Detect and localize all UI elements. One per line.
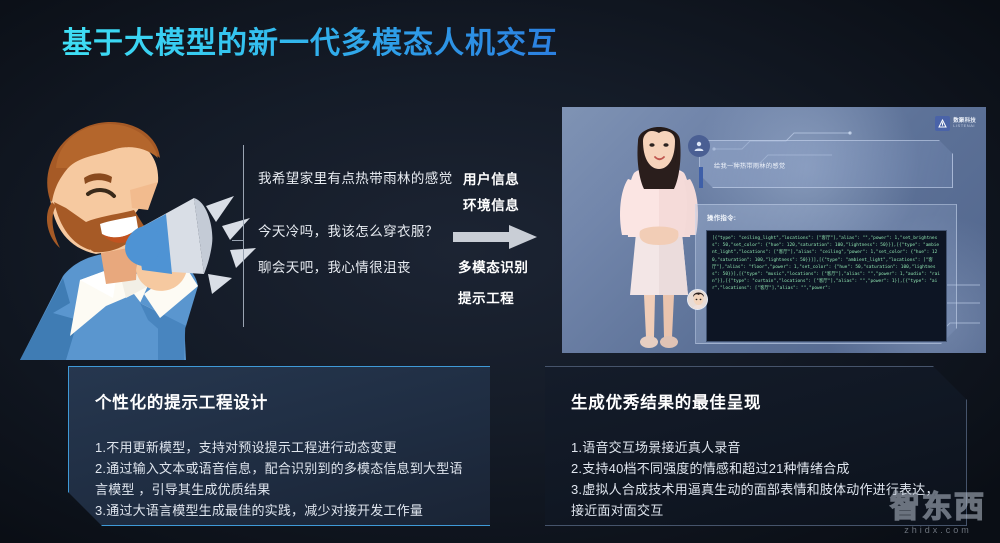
logo-text-en: LISTENAI — [953, 124, 976, 128]
chat-message-text: 给我一种热带雨林的感觉 — [714, 161, 785, 170]
demo-screen-panel: 数聚科技 LISTENAI 给我一种热带雨林的感觉 — [562, 107, 986, 353]
code-output-box: [{"type": "ceiling_light","locations": [… — [706, 230, 947, 342]
card-right-line-3: 3.虚拟人合成技术用逼真生动的面部表情和肢体动作进行表达，接近面对面交互 — [571, 479, 940, 521]
watermark-en: zhidx.com — [890, 525, 986, 535]
reply-title-label: 操作指令: — [707, 213, 736, 222]
speech-bracket — [243, 145, 253, 327]
man-with-megaphone-illustration — [8, 98, 258, 360]
card-left-line-3: 3.通过大语言模型生成最佳的实践，减少对接开发工作量 — [95, 500, 464, 521]
page-title: 基于大模型的新一代多模态人机交互 — [62, 18, 558, 62]
card-right-body: 1.语音交互场景接近真人录音 2.支持40档不同强度的情感和超过21种情绪合成 … — [571, 437, 940, 521]
center-label-environment-info: 环境信息 — [463, 194, 519, 214]
prompt-line-2: 今天冷吗，我该怎么穿衣服？ — [258, 220, 439, 240]
code-output-text: [{"type": "ceiling_light","locations": [… — [712, 235, 941, 293]
center-label-prompt-engineering: 提示工程 — [458, 287, 514, 307]
watermark: 智东西 zhidx.com — [890, 493, 986, 535]
prompt-line-3: 聊会天吧，我心情很沮丧 — [258, 256, 411, 276]
card-right-title: 生成优秀结果的最佳呈现 — [571, 389, 940, 413]
logo-mark-icon — [935, 116, 950, 131]
assistant-avatar-icon — [687, 289, 708, 310]
brand-logo: 数聚科技 LISTENAI — [935, 116, 976, 131]
right-arrow-icon — [453, 224, 537, 255]
card-left-body: 1.不用更新模型，支持对预设提示工程进行动态变更 2.通过输入文本或语音信息，配… — [95, 437, 464, 521]
card-left-line-2: 2.通过输入文本或语音信息，配合识别到的多模态信息到大型语言模型 ，引导其生成优… — [95, 458, 464, 500]
prompt-line-1: 我希望家里有点热带雨林的感觉 — [258, 167, 453, 187]
card-right-line-1: 1.语音交互场景接近真人录音 — [571, 437, 940, 458]
center-label-user-info: 用户信息 — [463, 168, 519, 188]
speech-bracket-tick — [232, 240, 244, 241]
center-label-multimodal-recognition: 多模态识别 — [458, 256, 529, 276]
card-left-title: 个性化的提示工程设计 — [95, 389, 464, 413]
watermark-cn: 智东西 — [890, 493, 986, 523]
slide-root: 基于大模型的新一代多模态人机交互 — [0, 0, 1000, 543]
card-right-line-2: 2.支持40档不同强度的情感和超过21种情绪合成 — [571, 458, 940, 479]
feature-card-left: 个性化的提示工程设计 1.不用更新模型，支持对预设提示工程进行动态变更 2.通过… — [68, 366, 490, 526]
user-avatar-icon — [688, 135, 710, 157]
card-left-line-1: 1.不用更新模型，支持对预设提示工程进行动态变更 — [95, 437, 464, 458]
logo-text: 数聚科技 LISTENAI — [953, 119, 976, 129]
chat-bubble-accent-bar — [699, 167, 703, 188]
